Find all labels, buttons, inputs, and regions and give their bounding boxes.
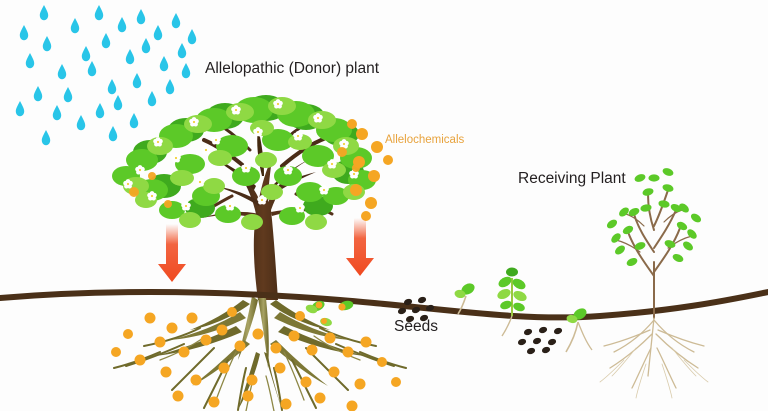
- allelopathy-diagram: Allelopathic (Donor) plant Allelochemica…: [0, 0, 768, 411]
- receiving-plant-fine-roots: [600, 348, 708, 398]
- receiving-plant: [600, 167, 708, 398]
- label-receiving-plant: Receiving Plant: [518, 170, 626, 188]
- diagram-canvas: [0, 0, 768, 411]
- donor-tree-canopy: [112, 95, 376, 230]
- label-seeds: Seeds: [394, 318, 438, 336]
- rainfall-group: [16, 5, 196, 145]
- donor-tree-roots: [114, 296, 406, 411]
- seed-cluster-right: [517, 326, 563, 356]
- label-allelochemicals: Allelochemicals: [385, 134, 464, 146]
- receiving-plant-roots: [604, 318, 704, 388]
- arrow-left: [158, 224, 186, 282]
- seedling-young: [496, 268, 528, 337]
- ground-line: [0, 292, 768, 317]
- seedling-germinating-2: [566, 306, 592, 352]
- arrow-right: [346, 218, 374, 276]
- label-allelopathic-donor-plant: Allelopathic (Donor) plant: [205, 60, 379, 78]
